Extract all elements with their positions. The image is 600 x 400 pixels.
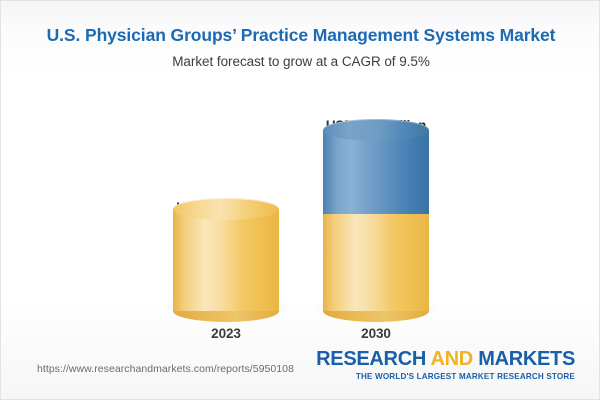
plot-area: USD 2.11 Billion 2023 USD 3.91 Billion (1, 91, 600, 341)
cylinder-body-base-2030 (323, 213, 429, 311)
report-url[interactable]: https://www.researchandmarkets.com/repor… (37, 363, 294, 375)
logo-word-markets: MARKETS (478, 348, 575, 370)
logo-word-research: RESEARCH (316, 348, 426, 370)
chart-header: U.S. Physician Groups’ Practice Manageme… (1, 1, 600, 69)
bar-segment-base-2023 (173, 209, 279, 311)
cylinder-body-growth-2030 (323, 130, 429, 214)
bar-cylinder-2030[interactable] (323, 130, 429, 311)
chart-canvas: U.S. Physician Groups’ Practice Manageme… (0, 0, 600, 400)
chart-footer: https://www.researchandmarkets.com/repor… (1, 341, 600, 399)
category-label-2030: 2030 (301, 326, 451, 341)
bar-segment-base-2030 (323, 213, 429, 311)
chart-title: U.S. Physician Groups’ Practice Manageme… (1, 1, 600, 45)
bar-segment-growth-2030 (323, 130, 429, 214)
research-and-markets-logo[interactable]: RESEARCH AND MARKETS THE WORLD'S LARGEST… (316, 349, 575, 382)
cylinder-body-2023 (173, 209, 279, 311)
bar-cylinder-2023[interactable] (173, 209, 279, 311)
logo-word-and: AND (431, 348, 473, 370)
category-label-2023: 2023 (151, 326, 301, 341)
logo-tagline: THE WORLD'S LARGEST MARKET RESEARCH STOR… (316, 370, 575, 382)
cylinder-top-cap-2030 (323, 119, 429, 141)
chart-subtitle: Market forecast to grow at a CAGR of 9.5… (1, 45, 600, 69)
logo-wordmark: RESEARCH AND MARKETS (316, 349, 575, 370)
cylinder-top-cap-2023 (173, 198, 279, 220)
